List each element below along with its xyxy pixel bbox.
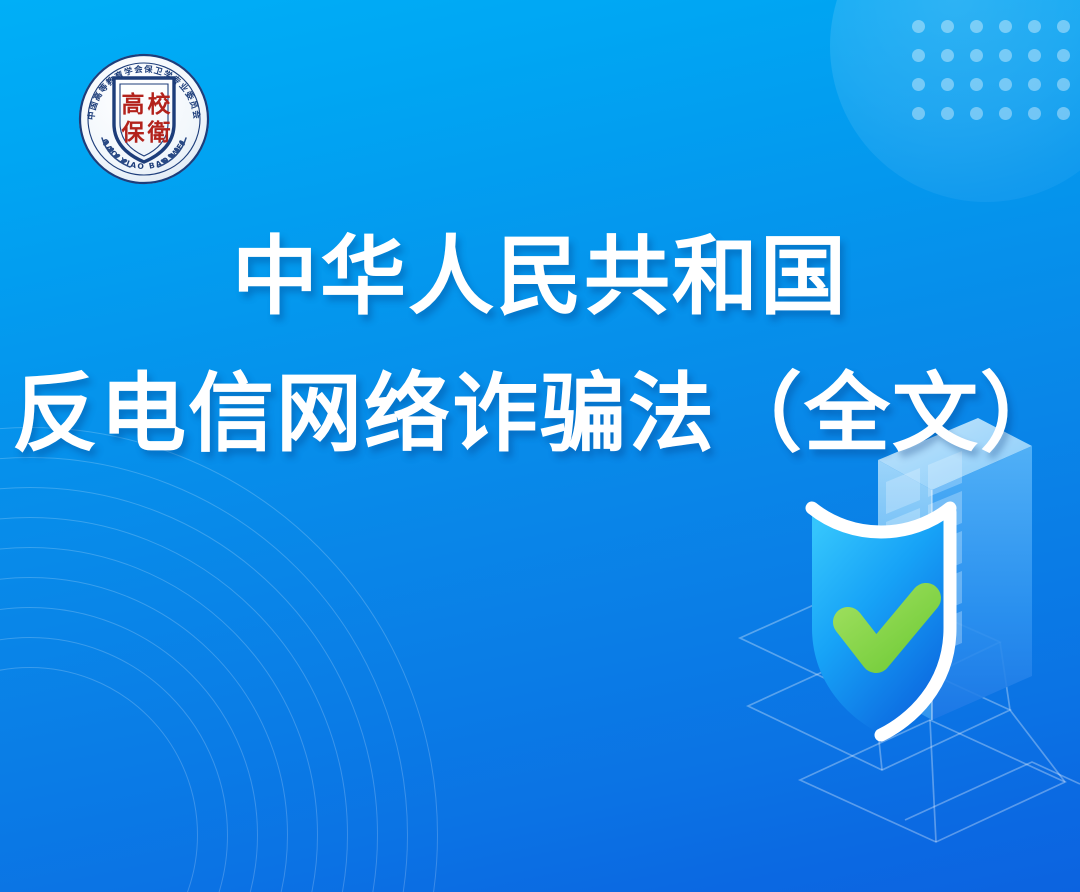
decor-ring — [0, 457, 408, 892]
grid-dot — [912, 78, 925, 91]
decor-ring — [0, 667, 198, 892]
grid-dot — [1028, 20, 1041, 33]
grid-dot — [970, 78, 983, 91]
grid-dot — [1028, 78, 1041, 91]
decor-ring — [0, 637, 228, 892]
logo-char-3: 保 — [121, 119, 146, 146]
title-line-2: 反电信网络诈骗法（全文） — [0, 369, 1080, 458]
grid-dot — [970, 49, 983, 62]
grid-dot — [999, 49, 1012, 62]
grid-dot — [941, 78, 954, 91]
grid-dot — [1028, 49, 1041, 62]
grid-dot — [1057, 49, 1070, 62]
top-right-dot-grid — [912, 20, 1080, 140]
decor-ring — [0, 577, 288, 892]
title-line-1: 中华人民共和国 — [0, 232, 1080, 321]
logo-char-1: 高 — [122, 91, 145, 118]
shield-icon — [812, 508, 950, 735]
organization-logo: 中国高等教育学会保卫学专业委员会 GAO XIAO BAO WEI — [68, 46, 220, 192]
grid-dot — [999, 20, 1012, 33]
grid-dot — [941, 107, 954, 120]
poster-canvas: 中国高等教育学会保卫学专业委员会 GAO XIAO BAO WEI — [0, 0, 1080, 892]
grid-dot — [1057, 78, 1070, 91]
grid-dot — [999, 78, 1012, 91]
decor-ring — [0, 487, 378, 892]
bottom-left-concentric-rings — [0, 455, 410, 892]
grid-dot — [970, 20, 983, 33]
logo-char-4: 衛 — [147, 119, 171, 146]
grid-dot — [941, 20, 954, 33]
grid-dot — [1057, 107, 1070, 120]
decor-ring — [0, 427, 438, 892]
poster-title: 中华人民共和国 反电信网络诈骗法（全文） — [0, 232, 1080, 459]
grid-dot — [912, 49, 925, 62]
grid-dot — [912, 107, 925, 120]
grid-dot — [1057, 20, 1070, 33]
grid-dot — [999, 107, 1012, 120]
grid-dot — [970, 107, 983, 120]
grid-dot — [1028, 107, 1041, 120]
decor-ring — [0, 607, 258, 892]
grid-dot — [941, 49, 954, 62]
decor-ring — [0, 547, 318, 892]
grid-dot — [912, 20, 925, 33]
decor-ring — [0, 517, 348, 892]
top-right-glow-circle — [830, 0, 1080, 202]
logo-char-2: 校 — [148, 91, 172, 118]
